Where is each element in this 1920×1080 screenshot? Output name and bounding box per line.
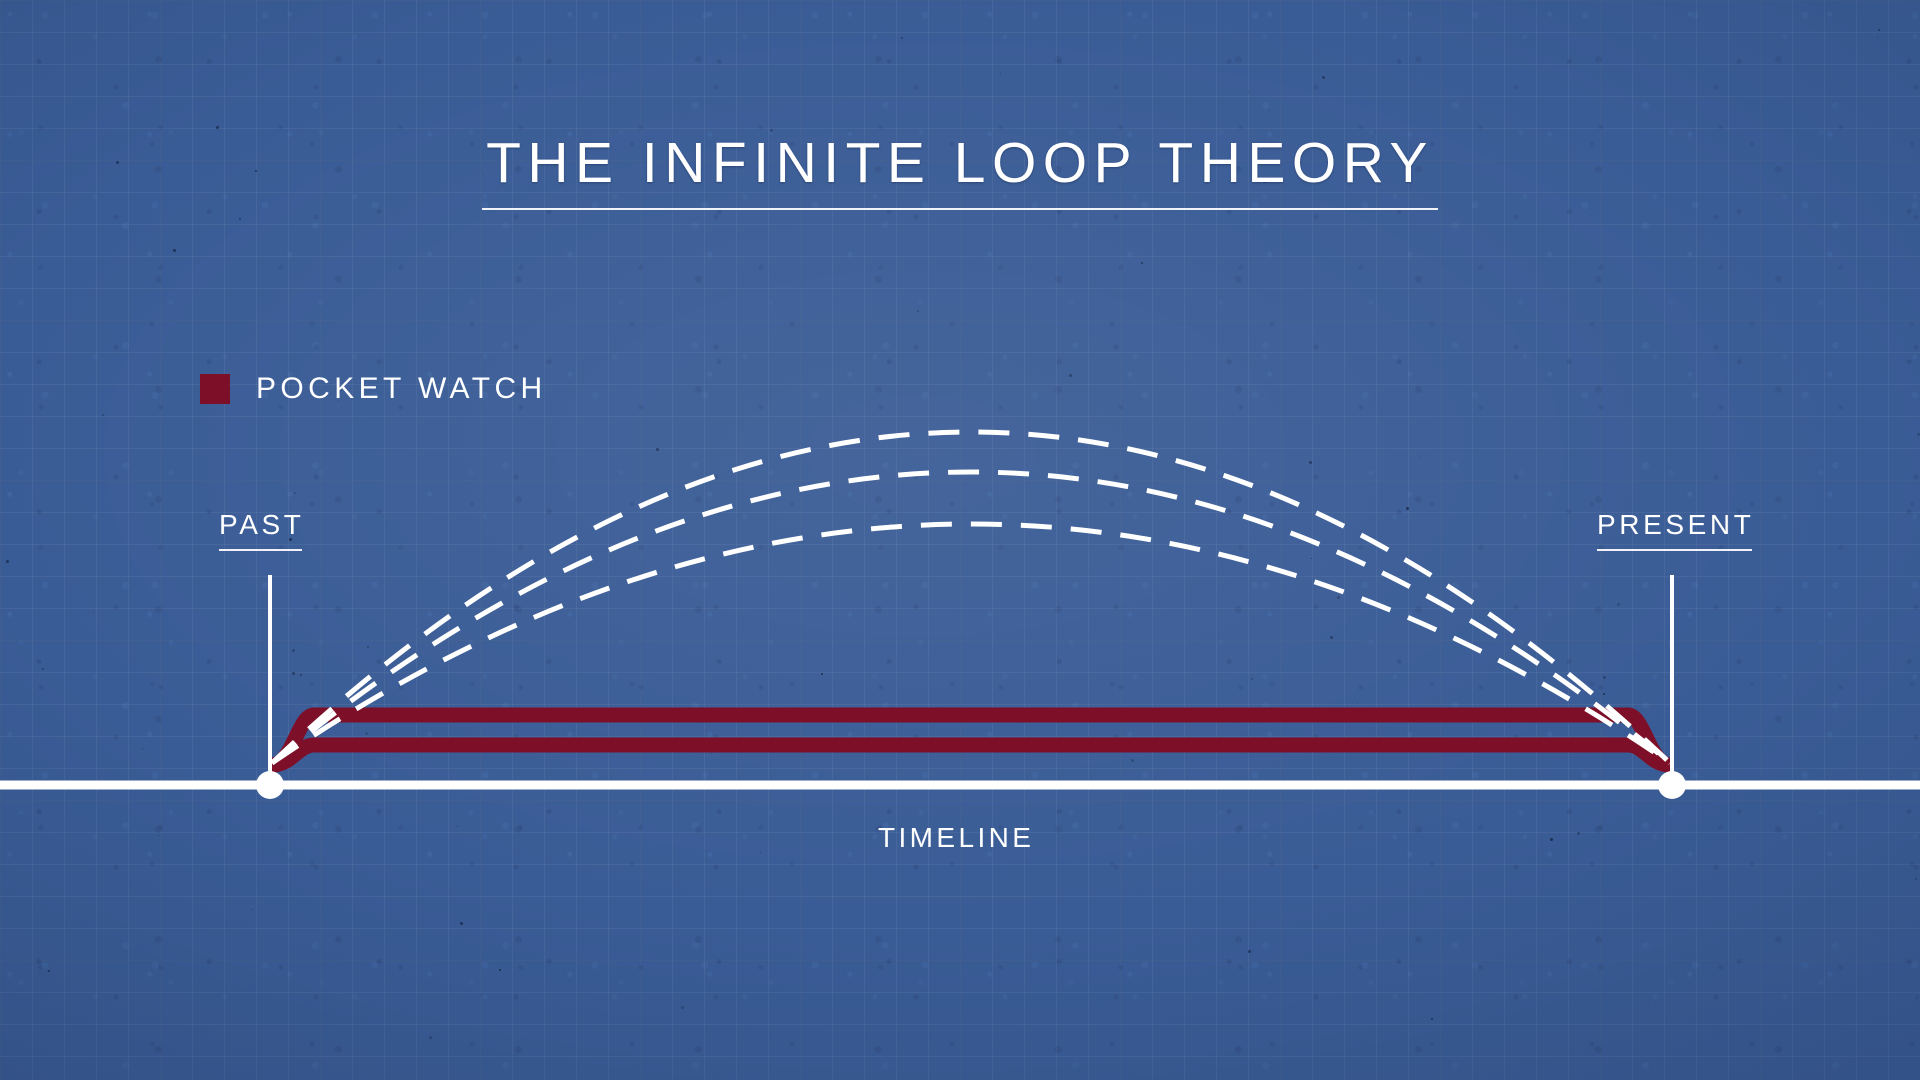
axis-label-present-text: PRESENT	[1597, 509, 1754, 540]
axis-label-past-text: PAST	[219, 509, 304, 540]
title-block: THE INFINITE LOOP THEORY	[0, 135, 1920, 210]
pocket-watch-paths	[272, 715, 1670, 765]
title-underline	[482, 208, 1438, 210]
axis-label-past-underline	[219, 549, 302, 551]
axis-label-timeline-text: TIMELINE	[878, 822, 1034, 853]
axis-label-timeline: TIMELINE	[878, 822, 1034, 854]
axis-label-present: PRESENT	[1597, 509, 1754, 551]
loop-arc-inner	[272, 524, 1670, 763]
past-node[interactable]	[256, 771, 284, 799]
axis-label-past: PAST	[219, 509, 304, 551]
infographic-canvas: THE INFINITE LOOP THEORY POCKET WATCH PA…	[0, 0, 1920, 1080]
present-node[interactable]	[1658, 771, 1686, 799]
legend: POCKET WATCH	[200, 372, 547, 406]
legend-swatch-pocket-watch	[200, 374, 230, 404]
page-title: THE INFINITE LOOP THEORY	[486, 135, 1434, 192]
legend-label-pocket-watch: POCKET WATCH	[256, 372, 547, 406]
pocket-watch-path-2	[272, 745, 1670, 765]
axis-label-present-underline	[1597, 549, 1752, 551]
axis-ticks	[270, 575, 1672, 785]
